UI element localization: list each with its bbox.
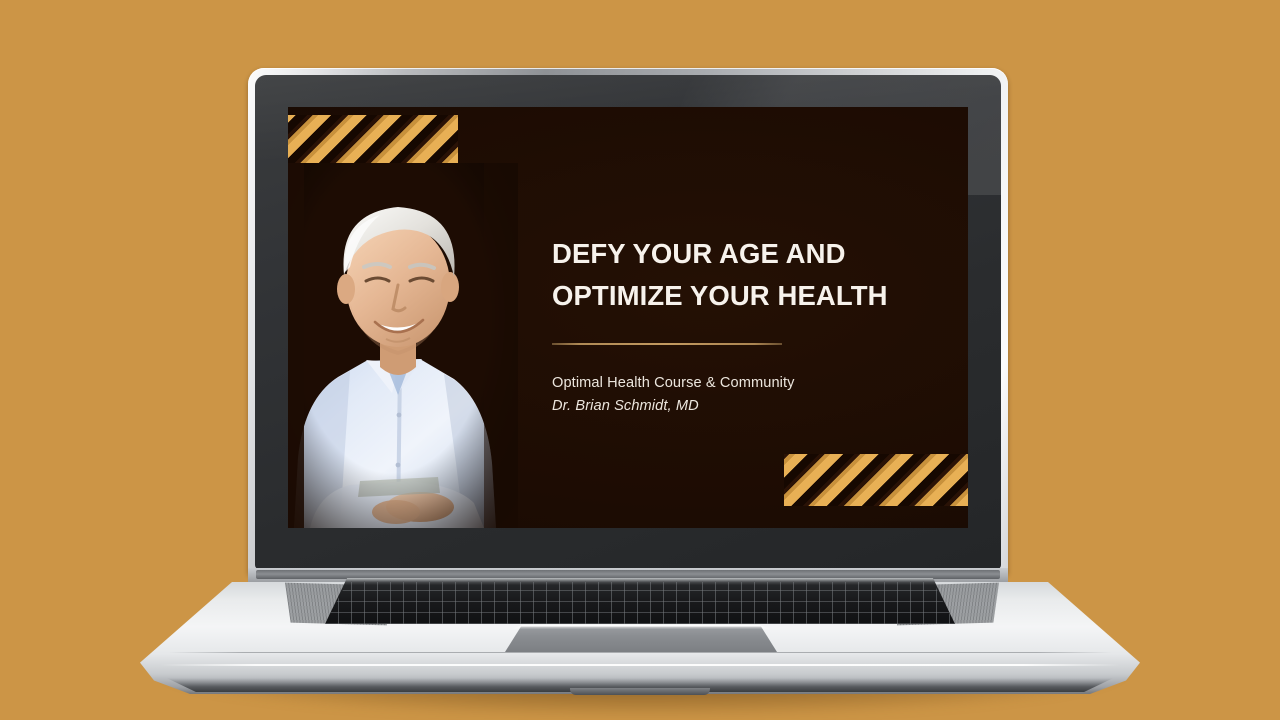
presenter-photo [288, 163, 518, 528]
presenter-name: Dr. Brian Schmidt, MD [552, 395, 952, 418]
screenshot-stage: DEFY YOUR AGE AND OPTIMIZE YOUR HEALTH O… [0, 0, 1280, 720]
course-subtitle: Optimal Health Course & Community [552, 372, 952, 395]
trackpad[interactable] [505, 626, 777, 652]
slide-subtitle-block: Optimal Health Course & Community Dr. Br… [552, 372, 952, 417]
deck-front-highlight [160, 664, 1120, 666]
keyboard-keys [325, 582, 955, 624]
diagonal-stripes-top-left [288, 115, 458, 165]
laptop-base [140, 568, 1140, 716]
front-latch-notch [570, 688, 710, 695]
slide-title: DEFY YOUR AGE AND OPTIMIZE YOUR HEALTH [552, 233, 952, 317]
palmrest-seam [168, 652, 1112, 653]
title-divider-rule [552, 343, 782, 345]
keyboard[interactable] [325, 578, 955, 624]
laptop-screen[interactable]: DEFY YOUR AGE AND OPTIMIZE YOUR HEALTH O… [288, 107, 968, 528]
hinge [256, 570, 1000, 579]
laptop-mockup: DEFY YOUR AGE AND OPTIMIZE YOUR HEALTH O… [140, 68, 1140, 668]
laptop-lid: DEFY YOUR AGE AND OPTIMIZE YOUR HEALTH O… [248, 68, 1008, 576]
diagonal-stripes-bottom-right [784, 454, 968, 506]
screen-bezel: DEFY YOUR AGE AND OPTIMIZE YOUR HEALTH O… [255, 75, 1001, 569]
trackpad-highlight [512, 625, 770, 629]
slide-text-block: DEFY YOUR AGE AND OPTIMIZE YOUR HEALTH O… [552, 233, 952, 417]
